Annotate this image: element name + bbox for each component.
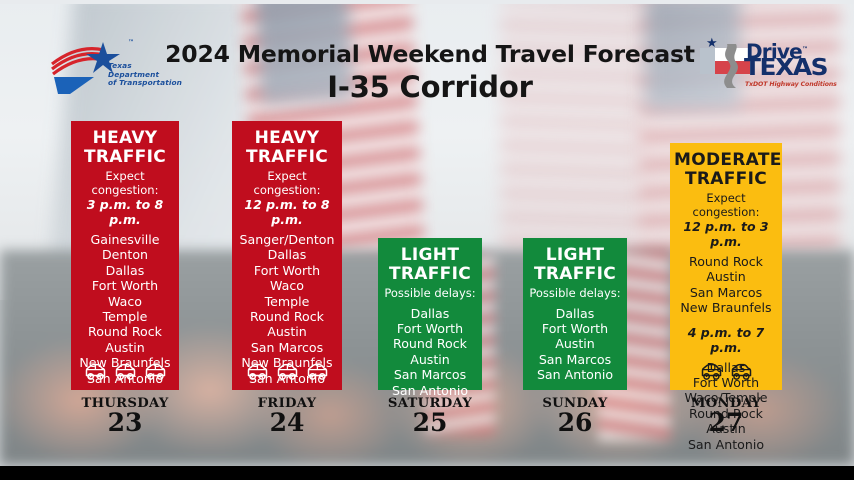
- car-icon: [730, 363, 753, 381]
- congestion-subtitle: Expect congestion:: [236, 170, 338, 197]
- traffic-level-line1: MODERATE: [674, 151, 778, 170]
- city-name: Austin: [527, 336, 623, 351]
- car-icon: [276, 363, 299, 381]
- congestion-subtitle: Possible delays:: [382, 287, 478, 301]
- traffic-level-line2: TRAFFIC: [236, 148, 338, 167]
- day-label-thursday: THURSDAY23: [55, 396, 195, 436]
- congestion-time-range: 3 p.m. to 8 p.m.: [75, 197, 175, 227]
- city-name: Round Rock: [674, 254, 778, 269]
- affected-cities-list: DallasFort WorthRound RockAustinSan Marc…: [382, 306, 478, 398]
- city-name: Waco: [75, 294, 175, 309]
- city-name: Dallas: [382, 306, 478, 321]
- page-title: 2024 Memorial Weekend Travel Forecast I-…: [160, 40, 700, 104]
- city-name: Dallas: [75, 263, 175, 278]
- affected-cities-list: Round RockAustinSan MarcosNew Braunfels: [674, 254, 778, 316]
- traffic-level-heading: LIGHTTRAFFIC: [382, 246, 478, 284]
- bottom-black-bar: [0, 466, 854, 480]
- city-name: Fort Worth: [527, 321, 623, 336]
- city-name: Austin: [674, 269, 778, 284]
- day-number: 26: [505, 410, 645, 436]
- city-name: Temple: [236, 294, 338, 309]
- city-name: Round Rock: [236, 309, 338, 324]
- congestion-subtitle: Possible delays:: [527, 287, 623, 301]
- car-icon: [144, 363, 167, 381]
- car-icon: [700, 363, 723, 381]
- title-secondary: I-35 Corridor: [160, 70, 700, 104]
- traffic-level-heading: LIGHTTRAFFIC: [527, 246, 623, 284]
- drive-texas-tagline: TxDOT Highway Conditions: [745, 81, 837, 88]
- traffic-level-line2: TRAFFIC: [674, 170, 778, 189]
- drive-trademark-icon: ™: [802, 46, 807, 53]
- car-icon: [114, 363, 137, 381]
- forecast-card-monday[interactable]: MODERATETRAFFICExpect congestion:12 p.m.…: [670, 143, 782, 390]
- city-name: Austin: [382, 352, 478, 367]
- traffic-level-heading: MODERATETRAFFIC: [674, 151, 778, 189]
- city-name: Round Rock: [75, 324, 175, 339]
- traffic-level-line1: LIGHT: [382, 246, 478, 265]
- forecast-card-friday[interactable]: HEAVYTRAFFICExpect congestion:12 p.m. to…: [232, 121, 342, 390]
- forecast-card-thursday[interactable]: HEAVYTRAFFICExpect congestion:3 p.m. to …: [71, 121, 179, 390]
- winding-road-icon: [714, 44, 742, 88]
- title-primary: 2024 Memorial Weekend Travel Forecast: [160, 40, 700, 68]
- city-name: Fort Worth: [75, 278, 175, 293]
- day-label-friday: FRIDAY24: [217, 396, 357, 436]
- car-icon-group: [71, 363, 179, 381]
- congestion-time-range: 4 p.m. to 7 p.m.: [674, 325, 778, 355]
- car-icon: [306, 363, 329, 381]
- congestion-time-range: 12 p.m. to 8 p.m.: [236, 197, 338, 227]
- city-name: Gainesville: [75, 232, 175, 247]
- city-name: Temple: [75, 309, 175, 324]
- city-name: Austin: [236, 324, 338, 339]
- traffic-level-heading: HEAVYTRAFFIC: [75, 129, 175, 167]
- traffic-level-line1: HEAVY: [75, 129, 175, 148]
- traffic-level-line2: TRAFFIC: [382, 265, 478, 284]
- traffic-level-line1: HEAVY: [236, 129, 338, 148]
- congestion-subtitle: Expect congestion:: [674, 192, 778, 219]
- city-name: New Braunfels: [674, 300, 778, 315]
- day-label-sunday: SUNDAY26: [505, 396, 645, 436]
- day-number: 23: [55, 410, 195, 436]
- city-name: Round Rock: [382, 336, 478, 351]
- city-name: San Antonio: [527, 367, 623, 382]
- city-name: Denton: [75, 247, 175, 262]
- day-number: 25: [360, 410, 500, 436]
- city-name: San Marcos: [236, 340, 338, 355]
- city-name: Sanger/Denton: [236, 232, 338, 247]
- txdot-trademark-icon: ™: [128, 39, 134, 46]
- traffic-level-heading: HEAVYTRAFFIC: [236, 129, 338, 167]
- city-name: Austin: [75, 340, 175, 355]
- city-name: San Marcos: [382, 367, 478, 382]
- affected-cities-list: DallasFort WorthAustinSan MarcosSan Anto…: [527, 306, 623, 383]
- traffic-level-line1: LIGHT: [527, 246, 623, 265]
- city-name: Waco: [236, 278, 338, 293]
- day-label-monday: MONDAY27: [656, 396, 796, 436]
- day-number: 27: [656, 410, 796, 436]
- traffic-level-line2: TRAFFIC: [527, 265, 623, 284]
- car-icon-group: [670, 363, 782, 381]
- congestion-time-range: 12 p.m. to 3 p.m.: [674, 219, 778, 249]
- car-icon: [246, 363, 269, 381]
- forecast-card-sunday[interactable]: LIGHTTRAFFICPossible delays:DallasFort W…: [523, 238, 627, 390]
- day-label-saturday: SATURDAY25: [360, 396, 500, 436]
- city-name: Fort Worth: [382, 321, 478, 336]
- forecast-card-saturday[interactable]: LIGHTTRAFFICPossible delays:DallasFort W…: [378, 238, 482, 390]
- drive-texas-word-texas: TEXAS: [744, 57, 827, 80]
- city-name: San Antonio: [674, 437, 778, 452]
- header: ™ Texas Department of Transportation 202…: [0, 0, 854, 118]
- drive-texas-logo: ★ Drive™ TEXAS TxDOT Highway Conditions: [700, 36, 822, 94]
- car-icon: [84, 363, 107, 381]
- traffic-level-line2: TRAFFIC: [75, 148, 175, 167]
- day-number: 24: [217, 410, 357, 436]
- city-name: San Marcos: [674, 285, 778, 300]
- city-name: Fort Worth: [236, 263, 338, 278]
- city-name: Dallas: [527, 306, 623, 321]
- city-name: Dallas: [236, 247, 338, 262]
- car-icon-group: [232, 363, 342, 381]
- city-name: San Marcos: [527, 352, 623, 367]
- congestion-subtitle: Expect congestion:: [75, 170, 175, 197]
